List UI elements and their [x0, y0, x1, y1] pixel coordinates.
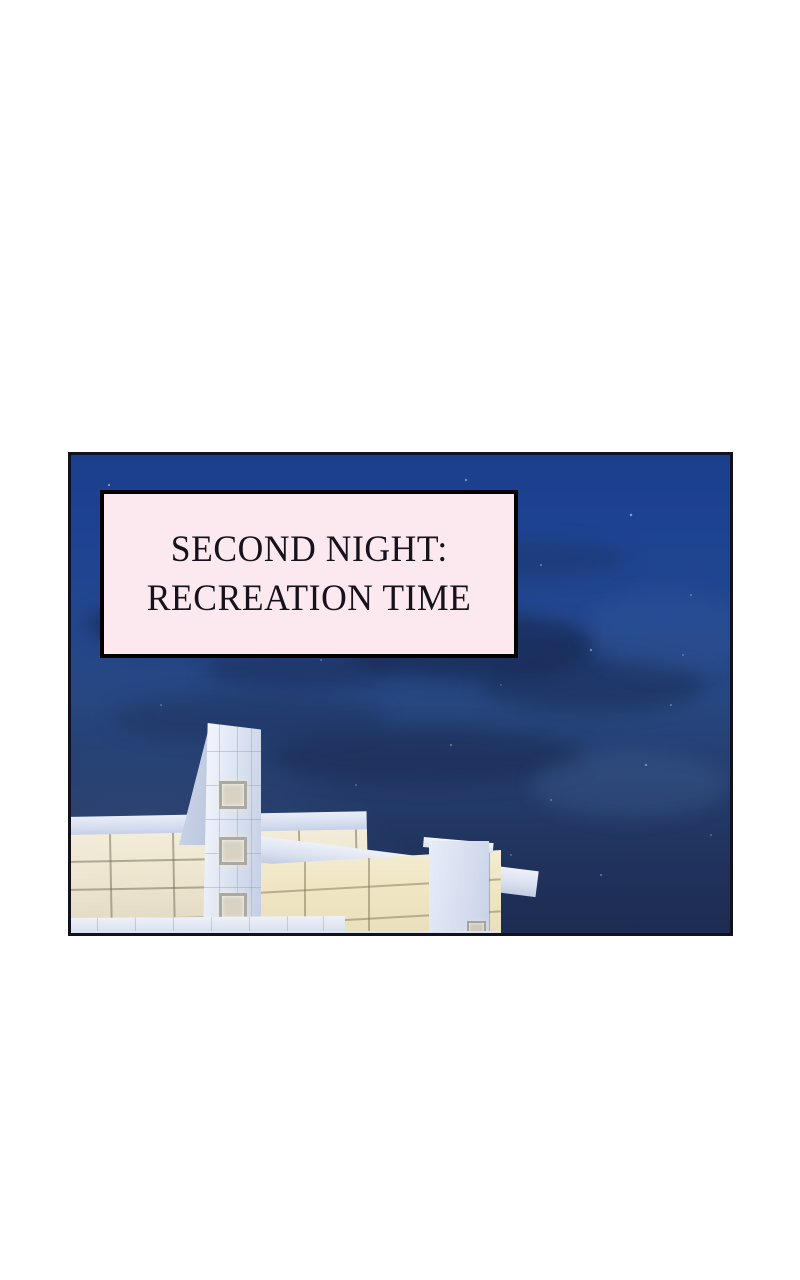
comic-panel: SECOND NIGHT: RECREATION TIME	[68, 452, 733, 936]
front-parapet-band	[68, 916, 345, 936]
caption-line-1: SECOND NIGHT:	[170, 526, 447, 573]
building-window-light	[467, 921, 486, 936]
caption-line-2: RECREATION TIME	[147, 575, 472, 622]
tower-window-light	[219, 781, 247, 809]
tower-window-light	[219, 837, 247, 865]
caption-title-box: SECOND NIGHT: RECREATION TIME	[100, 490, 518, 658]
building-base-slab	[68, 931, 497, 936]
